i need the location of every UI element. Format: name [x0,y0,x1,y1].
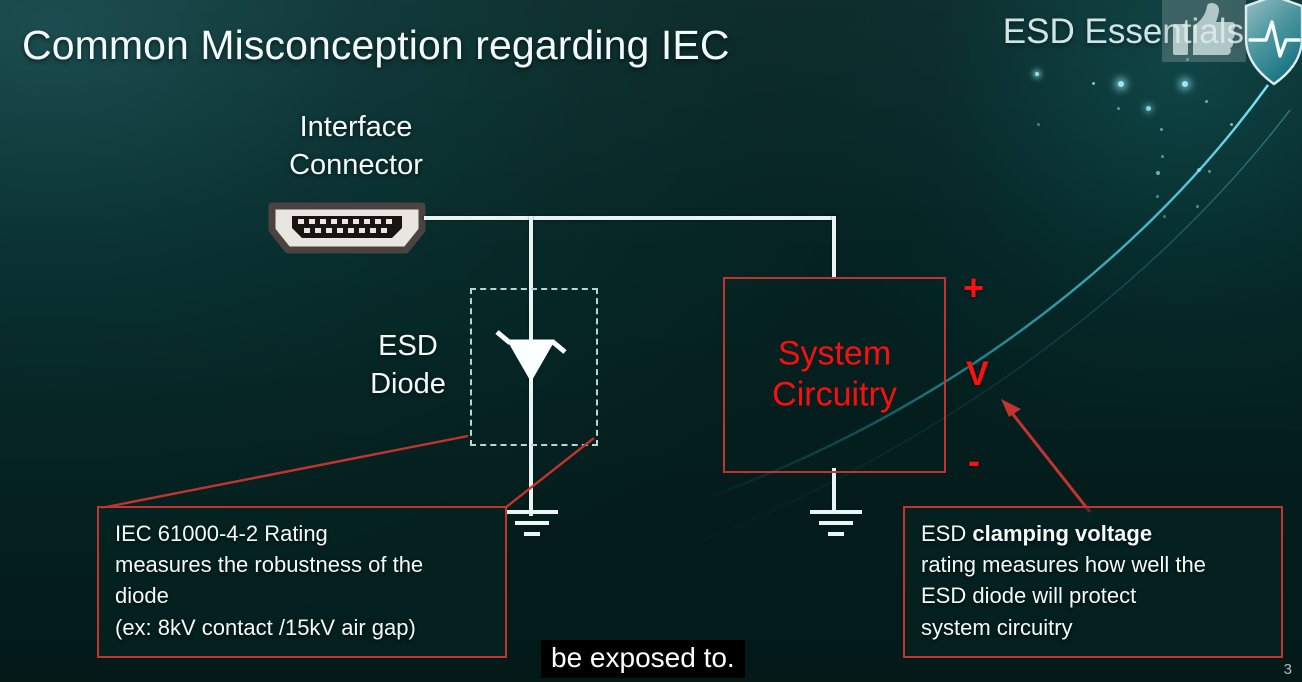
callout-right-line3: ESD diode will protect [921,580,1267,611]
callout-left-line3: diode [115,580,491,611]
red-arrow-to-voltage [1001,399,1090,512]
callout-right-line1: ESD clamping voltage [921,518,1267,549]
callout-right-line2: rating measures how well the [921,549,1267,580]
callout-right-line1-bold: clamping voltage [972,521,1152,546]
slide-number: 3 [1284,661,1292,678]
video-caption: be exposed to. [541,640,745,678]
callout-left: IEC 61000-4-2 Rating measures the robust… [97,506,507,658]
callout-left-line2: measures the robustness of the [115,549,491,580]
callout-left-line4: (ex: 8kV contact /15kV air gap) [115,612,491,643]
slide-canvas: Common Misconception regarding IEC ESD E… [0,0,1302,682]
callout-right-line1-prefix: ESD [921,521,972,546]
callout-right: ESD clamping voltage rating measures how… [903,506,1283,658]
callout-right-line4: system circuitry [921,612,1267,643]
callout-left-line1: IEC 61000-4-2 Rating [115,518,491,549]
